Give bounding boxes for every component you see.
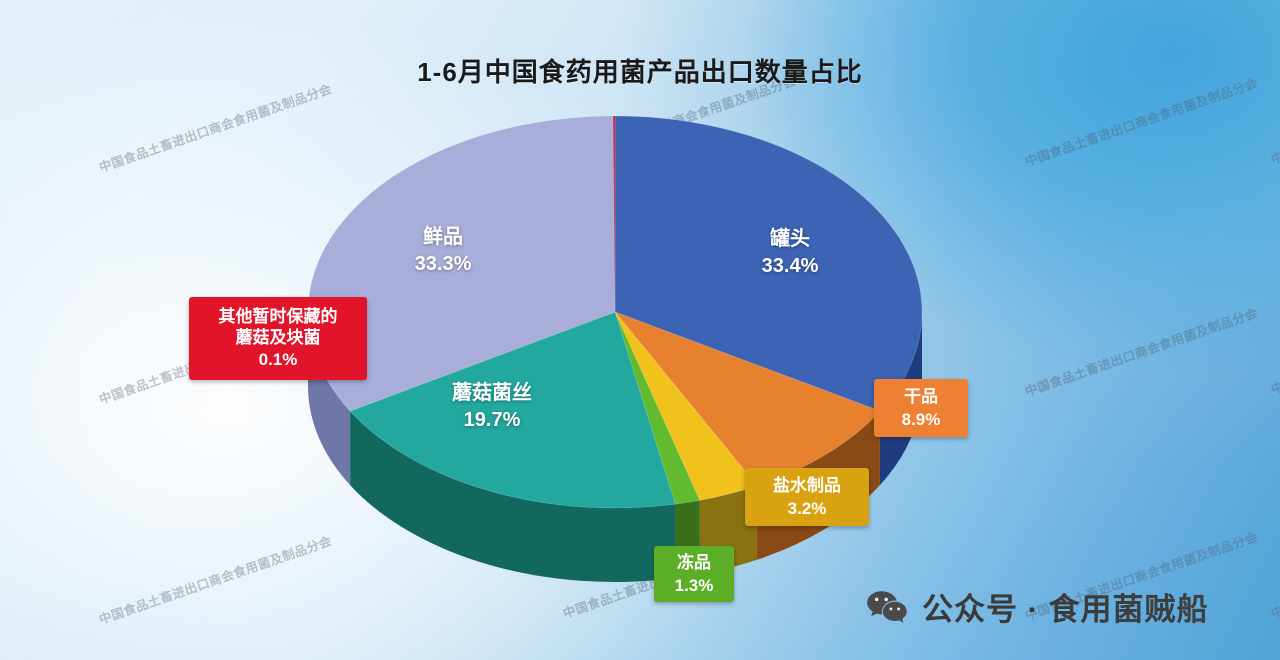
wechat-icon-svg [866,590,908,624]
pie-top-faces [308,116,922,508]
callout-other-name-line2: 蘑菇及块菌 [195,328,361,349]
callout-brine-value: 3.2% [749,499,865,520]
callout-other-name-line1: 其他暂时保藏的 [195,307,361,328]
chart-canvas: 中国食品土畜进出口商会食用菌及制品分会中国食品土畜进出口商会食用菌及制品分会中国… [0,0,1280,660]
wechat-icon [866,590,908,624]
callout-dried-value: 8.9% [878,410,964,431]
callout-frozen-value: 1.3% [658,576,730,597]
callout-brine: 盐水制品 3.2% [745,468,869,526]
callout-frozen: 冻品 1.3% [654,546,734,602]
callout-other-preserved: 其他暂时保藏的 蘑菇及块菌 0.1% [189,297,367,380]
pie-chart: 罐头 33.4% 蘑菇菌丝 19.7% 鲜品 33.3% 其他暂时保藏的 蘑菇及… [0,0,1280,660]
callout-other-value: 0.1% [195,350,361,371]
callout-dried-name: 干品 [878,387,964,408]
callout-brine-name: 盐水制品 [749,476,865,497]
callout-frozen-name: 冻品 [658,553,730,574]
wechat-footer: 公众号 · 食用菌贼船 [866,584,1209,629]
callout-dried: 干品 8.9% [874,379,968,437]
wechat-label: 公众号 · 食用菌贼船 [922,584,1209,629]
